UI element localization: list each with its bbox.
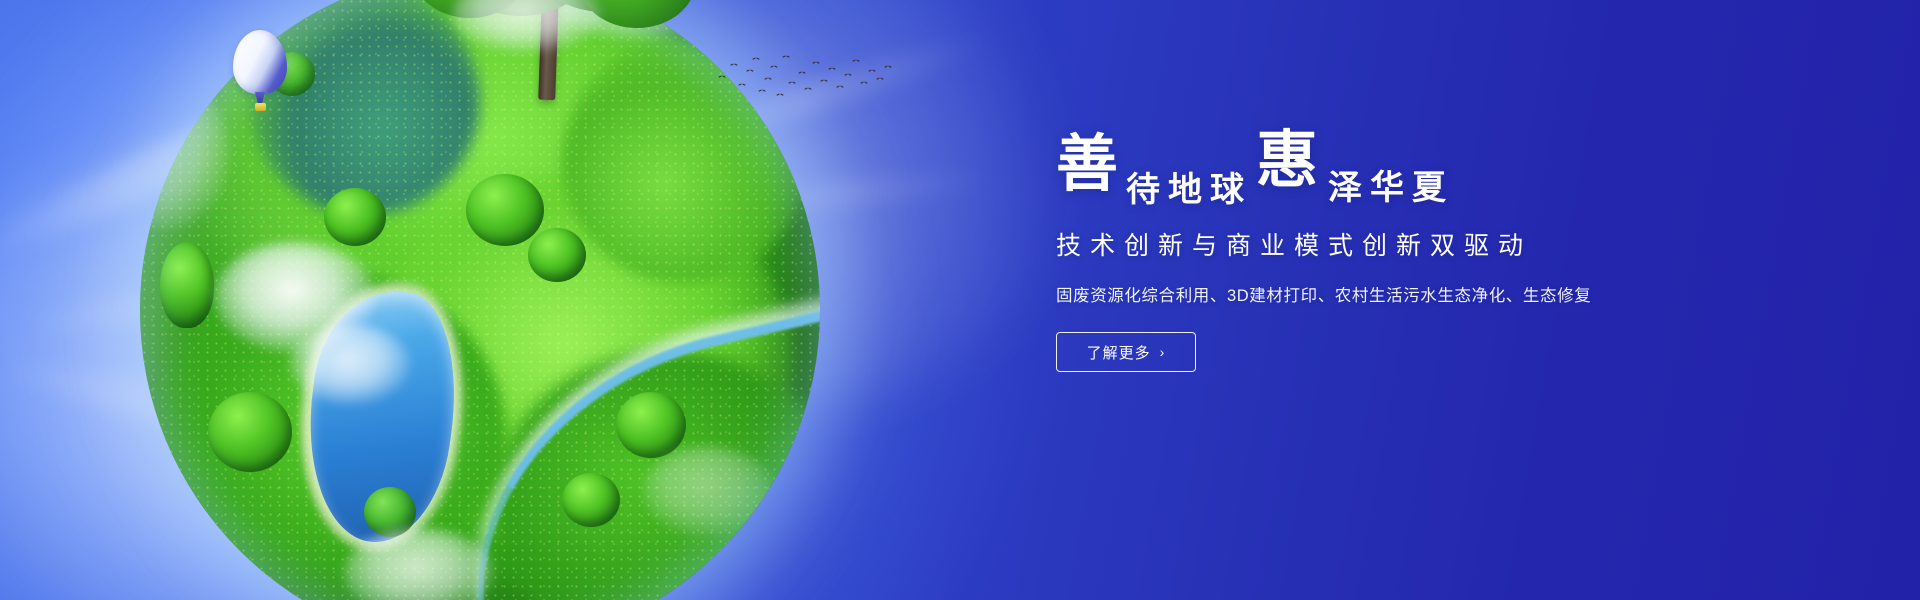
learn-more-label: 了解更多 <box>1087 342 1151 363</box>
tree-clump <box>324 188 386 246</box>
headline-part-1: 待地球 <box>1126 162 1252 211</box>
learn-more-button[interactable]: 了解更多 › <box>1056 332 1196 372</box>
tree-clump <box>562 473 620 527</box>
hero-copy: 善 待地球 惠 泽华夏 技术创新与商业模式创新双驱动 固废资源化综合利用、3D建… <box>1056 128 1756 372</box>
globe-cloud <box>290 324 410 404</box>
balloon-neck <box>255 92 265 103</box>
headline-char-2: 惠 <box>1256 130 1320 192</box>
tree-clump <box>616 392 686 458</box>
tree-clump <box>208 392 292 472</box>
tree-clump <box>528 228 586 282</box>
balloon-envelope <box>233 30 287 94</box>
tree-clump <box>160 242 214 328</box>
headline-char-1: 善 <box>1056 134 1120 196</box>
subheadline: 技术创新与商业模式创新双驱动 <box>1056 226 1756 262</box>
description: 固废资源化综合利用、3D建材打印、农村生活污水生态净化、生态修复 <box>1056 282 1756 306</box>
headline-part-2: 泽华夏 <box>1328 160 1454 209</box>
foreground-tree <box>398 0 698 134</box>
chevron-right-icon: › <box>1160 344 1166 360</box>
headline: 善 待地球 惠 泽华夏 <box>1056 128 1756 214</box>
tree-mist <box>452 0 602 52</box>
balloon-basket <box>255 103 266 111</box>
bird-flock <box>714 50 894 102</box>
hot-air-balloon <box>233 30 287 116</box>
hero-banner: 善 待地球 惠 泽华夏 技术创新与商业模式创新双驱动 固废资源化综合利用、3D建… <box>0 0 1920 600</box>
tree-clump <box>466 174 544 246</box>
globe-cloud <box>643 446 773 536</box>
